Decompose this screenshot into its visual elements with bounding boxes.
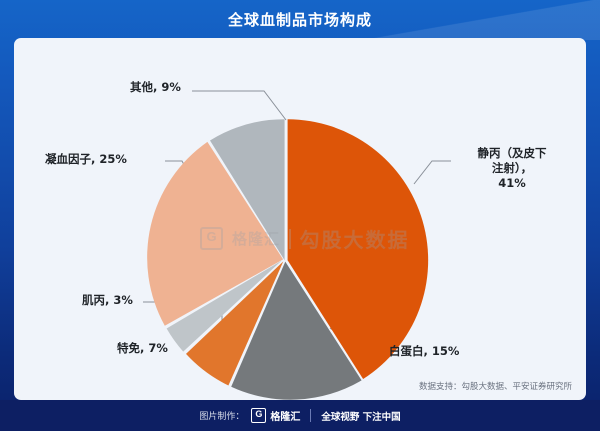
pie-label-iv-ig-line1: 静丙（及皮下 — [478, 146, 547, 160]
footer-slogan: 全球视野 下注中国 — [321, 409, 400, 423]
footer-divider — [310, 409, 311, 422]
pie-label-iv-ig-line2: 注射）， — [492, 161, 532, 175]
page-title: 全球血制品市场构成 — [0, 9, 600, 30]
chart-card: 其他, 9% 凝血因子, 25% 肌丙, 3% 特免, 7% 白蛋白, 15% … — [14, 38, 586, 400]
pie-label-albumin: 白蛋白, 15% — [389, 344, 459, 359]
pie-label-special-ig: 特免, 7% — [117, 341, 168, 356]
source-note: 数据支持：勾股大数据、平安证券研究所 — [419, 380, 572, 392]
footer-brand: 格隆汇 — [270, 408, 300, 423]
pie-chart-svg — [14, 38, 586, 400]
pie-chart: 其他, 9% 凝血因子, 25% 肌丙, 3% 特免, 7% 白蛋白, 15% … — [14, 38, 586, 400]
pie-label-iv-ig-line3: 41% — [498, 176, 526, 190]
leader-line-iv — [414, 161, 451, 184]
pie-label-coag-factor: 凝血因子, 25% — [45, 152, 127, 167]
infographic-canvas: 全球血制品市场构成 — [0, 0, 600, 431]
footer-logo: G 格隆汇 — [251, 408, 300, 423]
pie-label-im-ig: 肌丙, 3% — [82, 293, 133, 308]
footer-bar: 图片制作： G 格隆汇 全球视野 下注中国 — [0, 400, 600, 431]
pie-label-other: 其他, 9% — [130, 80, 181, 95]
leader-line-other — [192, 91, 286, 120]
footer-credit-prefix: 图片制作： — [199, 409, 244, 422]
pie-label-iv-ig: 静丙（及皮下 注射）， 41% — [456, 146, 568, 191]
footer-logo-icon: G — [251, 408, 266, 423]
